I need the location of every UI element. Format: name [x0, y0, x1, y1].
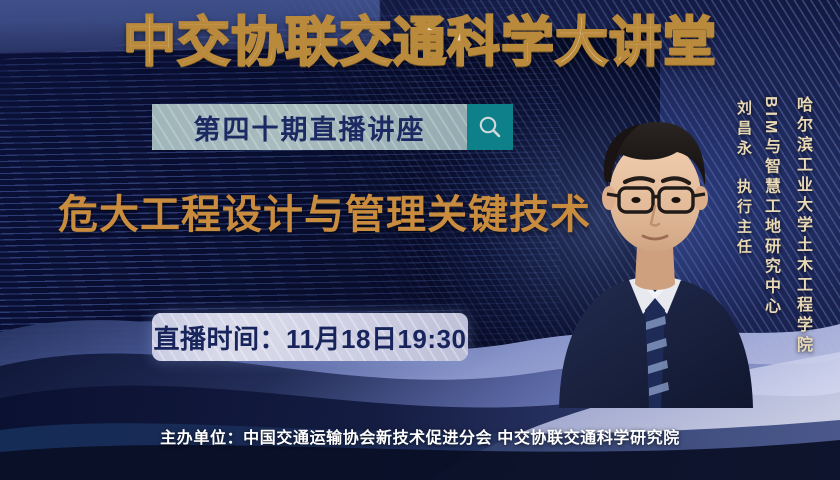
search-icon-box[interactable] — [467, 104, 513, 150]
organizer-footer: 主办单位：中国交通运输协会新技术促进分会 中交协联交通科学研究院 — [0, 424, 840, 448]
episode-banner: 第四十期直播讲座 — [152, 104, 467, 150]
broadcast-time-label: 直播时间：11月18日19:30 — [154, 319, 467, 356]
speaker-portrait — [545, 78, 765, 408]
speaker-center: BIM与智慧工地研究中心 — [758, 96, 782, 317]
episode-banner-label: 第四十期直播讲座 — [194, 108, 426, 147]
livestream-poster: 中交协联交通科学大讲堂 第四十期直播讲座 危大工程设计与管理关键技术 直播时间：… — [0, 0, 840, 480]
search-icon — [477, 114, 503, 140]
speaker-school: 哈尔滨工业大学土木工程学院 — [790, 96, 814, 356]
broadcast-time-pill: 直播时间：11月18日19:30 — [152, 313, 468, 361]
speaker-name-title: 刘昌永 执行主任 — [733, 100, 754, 258]
page-title: 中交协联交通科学大讲堂 — [0, 14, 840, 72]
lecture-title: 危大工程设计与管理关键技术 — [58, 192, 591, 238]
